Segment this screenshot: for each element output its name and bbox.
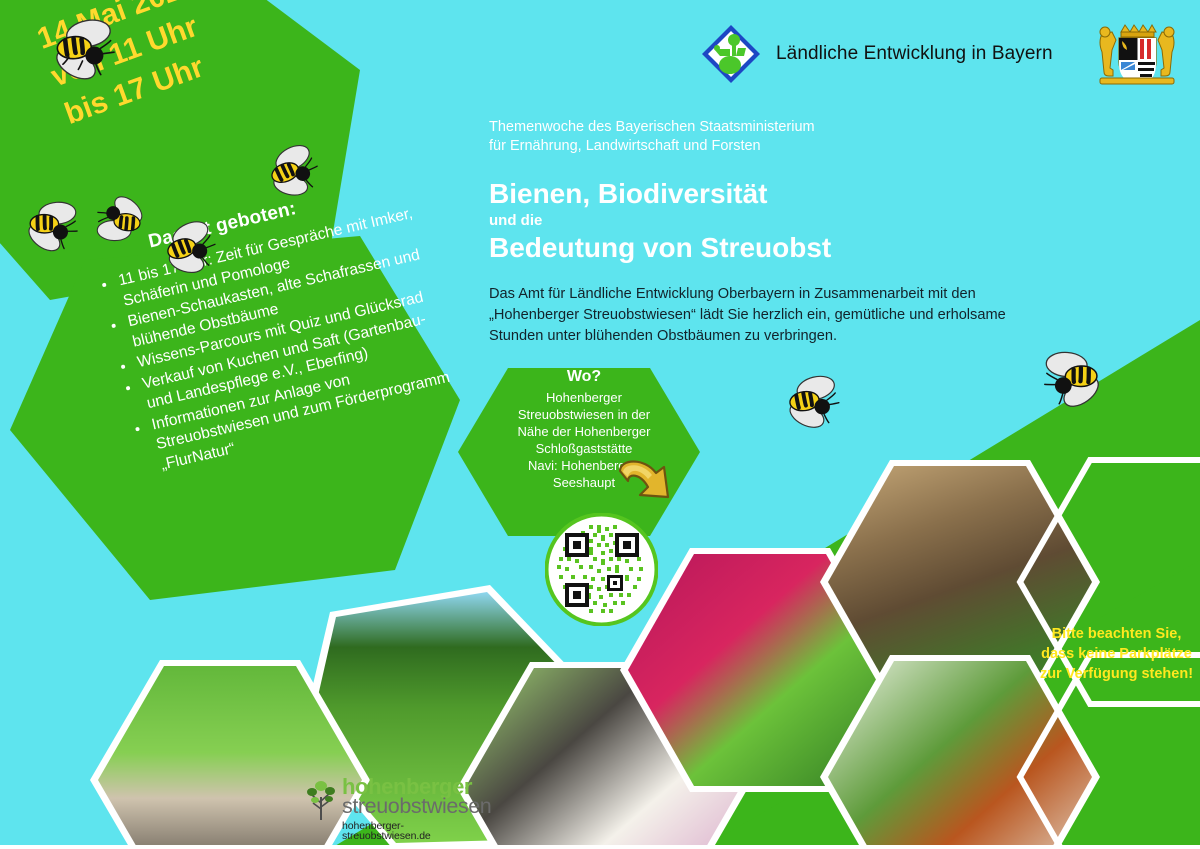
hohenberger-word-bottom: streuobstwiesen — [342, 796, 491, 818]
headline-connector: und die — [489, 211, 1109, 230]
bee-1-icon — [43, 8, 138, 93]
qr-code-circle[interactable] — [545, 513, 658, 626]
hohenberger-wordmark: hohenberger streuobstwiesen hohenberger-… — [342, 776, 491, 842]
kicker-text: Themenwoche des Bayerischen Staatsminist… — [489, 118, 1109, 156]
location-line-3: Nähe der Hohenberger — [489, 423, 679, 440]
ale-diamond-logo-icon — [700, 23, 762, 85]
bee-6-icon — [780, 367, 858, 438]
hohenberger-logo[interactable]: hohenberger streuobstwiesen hohenberger-… — [306, 776, 486, 842]
tree-icon — [306, 779, 338, 821]
header-title: Ländliche Entwicklung in Bayern — [776, 43, 1053, 65]
hohenberger-url[interactable]: hohenberger-streuobstwiesen.de — [342, 821, 491, 842]
headline-primary: Bienen, Biodiversität — [489, 178, 1109, 210]
kicker-line-1: Themenwoche des Bayerischen Staatsminist… — [489, 118, 1109, 137]
parking-line-1: Bitte beachten Sie, — [1034, 624, 1199, 644]
intro-line-2: „Hohenberger Streuobstwiesen“ lädt Sie h… — [489, 305, 1109, 326]
location-line-1: Hohenberger — [489, 389, 679, 406]
poster-canvas: Ländliche Entwicklung in Bayern — [0, 0, 1200, 849]
intro-line-1: Das Amt für Ländliche Entwicklung Oberba… — [489, 284, 1109, 305]
bottom-white-strip — [0, 845, 1200, 849]
location-title: Wo? — [489, 368, 679, 386]
parking-line-3: zur Verfügung stehen! — [1034, 664, 1199, 684]
parking-line-2: dass keine Parkplätze — [1034, 644, 1199, 664]
parking-notice: Bitte beachten Sie, dass keine Parkplätz… — [1034, 624, 1199, 684]
bee-2-icon — [259, 134, 339, 207]
header: Ländliche Entwicklung in Bayern — [700, 18, 1180, 90]
main-text-block: Themenwoche des Bayerischen Staatsminist… — [489, 118, 1109, 347]
location-line-2: Streuobstwiesen in der — [489, 406, 679, 423]
curved-down-right-arrow-icon — [614, 455, 680, 517]
headline-secondary: Bedeutung von Streuobst — [489, 232, 1109, 264]
kicker-line-2: für Ernährung, Landwirtschaft und Forste… — [489, 137, 1109, 156]
intro-paragraph: Das Amt für Ländliche Entwicklung Oberba… — [489, 284, 1109, 347]
bee-4-icon — [157, 212, 235, 283]
intro-line-3: Stunden unter blühenden Obstbäumen zu ve… — [489, 326, 1109, 347]
bavarian-coat-of-arms-icon — [1094, 20, 1180, 88]
